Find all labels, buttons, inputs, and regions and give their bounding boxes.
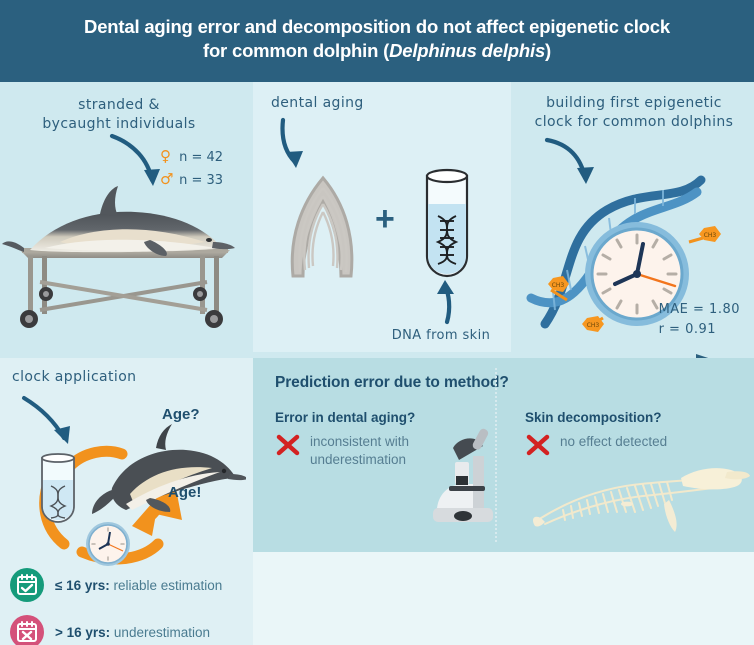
clock-statistics: MAE = 1.80 r = 0.91 <box>659 300 740 339</box>
svg-text:CH3: CH3 <box>704 232 717 239</box>
tooth-section-illustration <box>275 172 385 292</box>
title-bar: Dental aging error and decomposition do … <box>0 0 754 82</box>
dental-aging-label: dental aging <box>271 94 411 113</box>
red-x-icon <box>275 432 301 458</box>
skin-decomposition-answer-row: no effect detected <box>525 433 740 458</box>
legend-item-reliable: ≤ 16 yrs: reliable estimation <box>10 568 255 602</box>
microscope-icon <box>419 422 505 526</box>
svg-text:CH3: CH3 <box>552 282 565 289</box>
panel-dental-aging: dental aging <box>253 82 511 354</box>
legend-item-underestimation: > 16 yrs: underestimation <box>10 615 255 645</box>
methyl-group-icon-3: CH3 <box>582 316 604 332</box>
stat-r: r = 0.91 <box>659 320 740 340</box>
female-count: n = 42 <box>179 150 223 165</box>
female-count-row: ♀ n = 42 <box>160 145 223 168</box>
epigenetic-label-line-2: clock for common dolphins <box>535 114 734 130</box>
methyl-group-icon-2: CH3 <box>689 226 721 242</box>
epigenetic-clock-label: building first epigenetic clock for comm… <box>519 94 749 132</box>
small-clock-icon <box>86 522 130 566</box>
clock-application-label: clock application <box>12 368 162 387</box>
stat-mae: MAE = 1.80 <box>659 300 740 320</box>
calendar-check-icon <box>10 568 44 602</box>
skin-decomposition-answer: no effect detected <box>560 433 667 451</box>
panel-epigenetic-clock: building first epigenetic clock for comm… <box>511 82 754 354</box>
legend-underestimation-threshold: > 16 yrs: <box>55 625 110 640</box>
page-title: Dental aging error and decomposition do … <box>84 15 670 64</box>
female-icon: ♀ <box>160 145 175 168</box>
age-question-label: Age? <box>162 406 200 423</box>
species-name: Delphinus delphis <box>389 40 545 61</box>
vertical-dotted-divider <box>495 368 497 542</box>
dolphin-on-table-illustration <box>0 182 250 357</box>
epigenetic-label-line-1: building first epigenetic <box>546 95 722 111</box>
dna-from-skin-label: DNA from skin <box>371 327 511 345</box>
dental-error-answer-line-2: underestimation <box>310 452 406 467</box>
error-column-skin: Skin decomposition? no effect detected <box>525 410 740 458</box>
plus-symbol: + <box>375 200 395 239</box>
legend-reliable-text: ≤ 16 yrs: reliable estimation <box>55 578 222 593</box>
legend-reliable-desc: reliable estimation <box>110 578 223 593</box>
title-line-2-prefix: for common dolphin ( <box>203 40 389 61</box>
skin-decomposition-question: Skin decomposition? <box>525 410 740 425</box>
panel-sampling: stranded & bycaught individuals ♀ n = 42… <box>0 82 253 354</box>
results-banner: Results promise applicability and reliab… <box>253 552 754 645</box>
calendar-x-icon <box>10 615 44 645</box>
age-answer-label: Age! <box>168 484 201 501</box>
legend-underestimation-desc: underestimation <box>110 625 210 640</box>
prediction-error-title: Prediction error due to method? <box>275 374 509 392</box>
red-x-icon-2 <box>525 432 551 458</box>
svg-text:CH3: CH3 <box>587 322 600 329</box>
panel-clock-application: clock application <box>0 358 253 645</box>
legend-reliable-threshold: ≤ 16 yrs: <box>55 578 110 593</box>
legend-underestimation-text: > 16 yrs: underestimation <box>55 625 210 640</box>
dental-error-answer: inconsistent with underestimation <box>310 433 409 468</box>
age-legend: ≤ 16 yrs: reliable estimation > 16 yrs: … <box>10 568 255 645</box>
up-arrow-icon <box>429 278 469 326</box>
panel-prediction-error: Prediction error due to method? Error in… <box>253 358 754 552</box>
sampling-label: stranded & bycaught individuals <box>24 96 214 134</box>
top-panels-row: stranded & bycaught individuals ♀ n = 42… <box>0 82 754 354</box>
title-line-2-suffix: ) <box>545 40 551 61</box>
test-tube-dna-illustration <box>411 164 491 294</box>
sample-tube-icon <box>42 454 74 522</box>
dental-error-answer-line-1: inconsistent with <box>310 434 409 449</box>
title-line-1: Dental aging error and decomposition do … <box>84 16 670 37</box>
dolphin-skeleton-icon <box>531 458 751 550</box>
clock-application-illustration <box>6 394 246 594</box>
sampling-label-line-1: stranded & <box>78 97 160 113</box>
graphical-abstract: Dental aging error and decomposition do … <box>0 0 754 645</box>
